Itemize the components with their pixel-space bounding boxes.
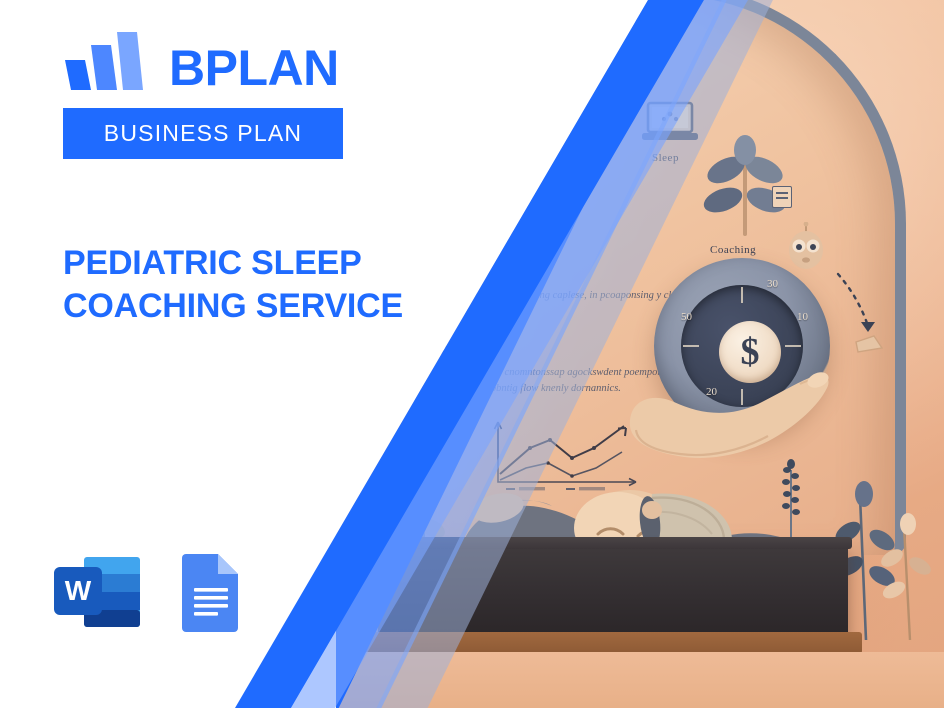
diagonal-stripe-soft xyxy=(291,0,748,708)
page-title-line1: PEDIATRIC SLEEP xyxy=(63,242,483,285)
page-title: PEDIATRIC SLEEP COACHING SERVICE xyxy=(63,242,483,328)
diagonal-stripe-solid xyxy=(235,0,704,708)
bar-chart-logo-icon xyxy=(63,30,151,92)
google-docs-icon[interactable] xyxy=(180,552,242,632)
word-icon-letter: W xyxy=(65,575,92,606)
business-plan-badge: BUSINESS PLAN xyxy=(63,108,343,159)
microsoft-word-icon[interactable]: W xyxy=(52,553,144,631)
file-format-icons: W xyxy=(52,552,242,632)
business-plan-badge-label: BUSINESS PLAN xyxy=(104,120,302,147)
brand-logo-row: BPLAN xyxy=(63,30,339,92)
page-title-line2: COACHING SERVICE xyxy=(63,285,483,328)
brand-name: BPLAN xyxy=(169,45,339,93)
business-plan-cover: Sleep Coaching xyxy=(0,0,944,708)
